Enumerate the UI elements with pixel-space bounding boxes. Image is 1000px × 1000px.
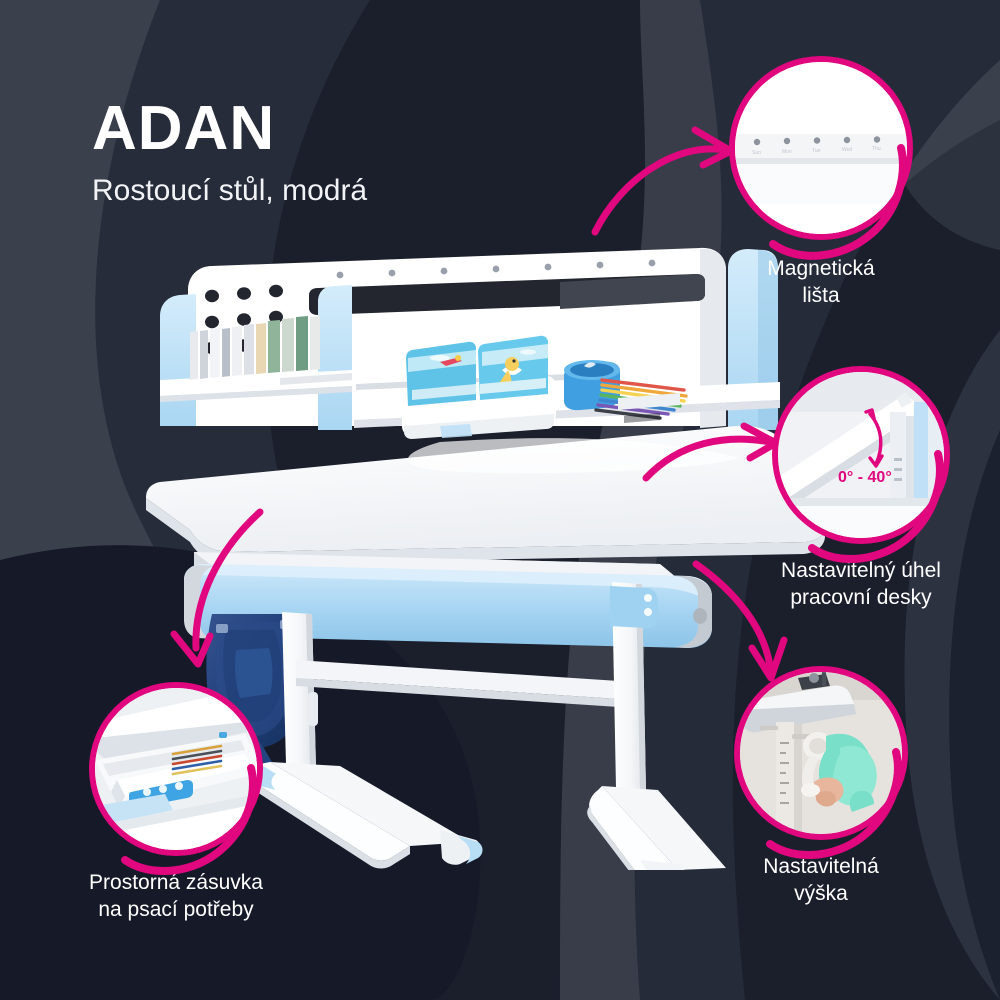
callout-label-line2: pracovní desky [736, 585, 986, 612]
callout-label-line1: Nastavitelná [706, 854, 936, 881]
page-title: ADAN [92, 98, 367, 160]
svg-text:Wed: Wed [842, 147, 852, 153]
callout-nastavitelna-vyska[interactable]: Nastavitelná výška [740, 672, 936, 908]
title-block: ADAN Rostoucí stůl, modrá [92, 98, 367, 207]
callout-bubble-height [740, 672, 902, 834]
page-subtitle: Rostoucí stůl, modrá [92, 174, 367, 207]
height-adjust-collar [610, 586, 658, 628]
callout-prostorna-zasuvka[interactable]: Prostorná zásuvka na psací potřeby [95, 688, 301, 924]
height-crank-photo [740, 672, 902, 834]
magnetic-strip-photo: SunMon TueWed Thu [735, 62, 907, 234]
svg-text:Tue: Tue [812, 148, 821, 154]
callout-bubble-drawer [95, 688, 257, 850]
svg-text:Sun: Sun [752, 150, 761, 156]
callout-label-line1: Nastavitelný úhel [736, 558, 986, 585]
callout-label-height: Nastavitelná výška [706, 854, 936, 908]
callout-bubble-tilt: 0° - 40° [778, 372, 944, 538]
arrow-to-drawer [160, 490, 300, 670]
callout-label-line2: lišta [721, 283, 921, 310]
callout-label-line1: Prostorná zásuvka [51, 870, 301, 897]
infographic-canvas: ADAN Rostoucí stůl, modrá [0, 0, 1000, 1000]
tilting-worktop-photo: 0° - 40° [778, 372, 944, 538]
svg-text:Thu: Thu [872, 146, 881, 152]
callout-label-line1: Magnetická [721, 256, 921, 283]
callout-label-tilt: Nastavitelný úhel pracovní desky [736, 558, 986, 612]
callout-magneticka-lista[interactable]: SunMon TueWed Thu Magnetická lišta [735, 62, 921, 310]
callout-label-drawer: Prostorná zásuvka na psací potřeby [51, 870, 301, 924]
callout-label-line2: výška [706, 881, 936, 908]
svg-text:Mon: Mon [782, 149, 792, 155]
tilt-angle-badge: 0° - 40° [838, 469, 892, 486]
callout-bubble-magnetic: SunMon TueWed Thu [735, 62, 907, 234]
callout-nastavitelny-uhel[interactable]: 0° - 40° Nastavitelný úhel pracovní desk… [778, 372, 986, 612]
arrow-to-tilt-angle [640, 420, 790, 490]
open-picture-book [402, 336, 556, 439]
callout-label-line2: na psací potřeby [51, 897, 301, 924]
open-drawer-photo [95, 688, 257, 850]
hutch-assembly [160, 248, 780, 439]
callout-label-magnetic: Magnetická lišta [721, 256, 921, 310]
